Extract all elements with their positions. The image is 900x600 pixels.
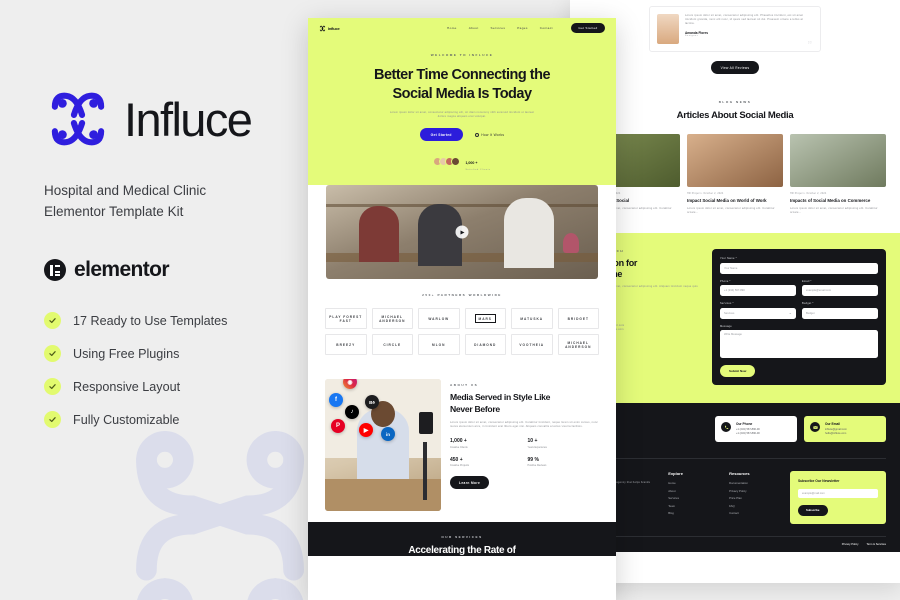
blog-card-title: Impact Social Media on World of Work — [687, 198, 783, 204]
stat-value: 450 + — [450, 457, 522, 463]
hero-title-line-2: Social Media Is Today — [392, 86, 531, 102]
subscribe-button[interactable]: Subscribe — [798, 505, 828, 516]
blog-excerpt: Lorem ipsum dolor sit amet, consectetur … — [790, 207, 886, 215]
site-logo-text: Influce — [328, 26, 340, 31]
nav-cta-button[interactable]: Get Started — [571, 23, 605, 34]
email-line-1: influce@gmail.com — [825, 428, 847, 431]
terms-link[interactable]: Term & Services — [866, 543, 886, 546]
feature-item: 17 Ready to Use Templates — [44, 312, 308, 329]
about-stats: 1,000 + Creative Clients 10 + Years Expe… — [450, 438, 599, 467]
template-preview-center[interactable]: Influce Home About Services Pages Contac… — [308, 18, 616, 600]
feature-item: Fully Customizable — [44, 411, 308, 428]
influce-logo-icon — [44, 85, 112, 153]
site-navbar: Influce Home About Services Pages Contac… — [308, 18, 616, 38]
phone-card-title: Our Phone — [736, 422, 760, 426]
blog-card-title: Impacts of Social Media on Commerce — [790, 198, 886, 204]
email-line-2: hello@influce.com — [825, 432, 846, 435]
blog-image — [687, 134, 783, 187]
privacy-policy-link[interactable]: Privacy Policy — [842, 543, 859, 546]
phone-line-1: +1 (234) 567-890-00 — [736, 428, 760, 431]
about-section: ◉ f ♪ Bē P ▶ in ABOUT US Media Served in… — [308, 371, 616, 511]
tiktok-icon[interactable]: ♪ — [345, 405, 359, 419]
feature-list: 17 Ready to Use Templates Using Free Plu… — [44, 312, 308, 428]
phone-input[interactable]: +1 (234) 567-890 — [720, 285, 796, 296]
partner-logo: PLAY FOREST FAST — [325, 308, 367, 329]
partners-section: 250+ PARTNERS WORLDWIDE PLAY FOREST FAST… — [308, 279, 616, 371]
about-content: ABOUT US Media Served in Style Like Neve… — [450, 379, 599, 511]
elementor-lockup: elementor — [44, 258, 308, 282]
check-icon — [44, 378, 61, 395]
play-icon[interactable] — [456, 226, 469, 239]
stat-label: Positive Reviews — [528, 464, 600, 467]
footer-link[interactable]: About — [668, 489, 715, 493]
stat-label: Years Experience — [528, 446, 600, 449]
footer-link[interactable]: Documentation — [729, 481, 776, 485]
nav-item-about[interactable]: About — [469, 26, 479, 30]
footer-column-explore: Explore Home About Services Team Blog — [668, 471, 715, 524]
budget-label: Budget * — [802, 302, 878, 305]
footer-link[interactable]: Privacy Policy — [729, 489, 776, 493]
footer-link[interactable]: Team — [668, 504, 715, 508]
nav-item-contact[interactable]: Contact — [540, 26, 553, 30]
feature-item: Using Free Plugins — [44, 345, 308, 362]
about-title-line-2: Never Before — [450, 404, 500, 414]
feature-item: Responsive Layout — [44, 378, 308, 395]
services-title: Accelerating the Rate of — [308, 545, 616, 556]
blog-meta: HR Project • October 2, 2024 — [790, 192, 886, 195]
footer-link[interactable]: Services — [668, 496, 715, 500]
subtitle-line-1: Hospital and Medical Clinic — [44, 180, 264, 201]
quotation-form[interactable]: Your Name * Your Name Phone * +1 (234) 5… — [712, 249, 886, 385]
about-eyebrow: ABOUT US — [450, 383, 599, 387]
footer-columns: Influce Social media marketing agency th… — [584, 458, 886, 524]
youtube-icon[interactable]: ▶ — [359, 423, 373, 437]
elementor-icon — [44, 259, 66, 281]
email-card[interactable]: Our Email influce@gmail.com hello@influc… — [804, 416, 886, 442]
hero-buttons: Get Started How It Works — [308, 128, 616, 141]
phone-icon — [721, 422, 731, 432]
about-title: Media Served in Style Like Never Before — [450, 392, 599, 415]
email-card-value: influce@gmail.com hello@influce.com — [825, 428, 847, 436]
hero-social-proof: 1,000 + Satisfied Clients — [308, 151, 616, 171]
feature-label: Using Free Plugins — [73, 347, 179, 361]
phone-line-2: +1 (234) 567-890-00 — [736, 432, 760, 435]
feature-label: Fully Customizable — [73, 413, 179, 427]
check-icon — [44, 312, 61, 329]
hero-primary-button[interactable]: Get Started — [420, 128, 463, 141]
footer-link[interactable]: Price Plan — [729, 496, 776, 500]
phone-label: Phone * — [720, 280, 796, 283]
about-paragraph: Lorem ipsum dolor sit amet, consectetur … — [450, 421, 599, 429]
left-info-panel: Influce Hospital and Medical Clinic Elem… — [0, 0, 308, 600]
behance-icon[interactable]: Bē — [365, 395, 379, 409]
partner-logo: DIAMOND — [465, 334, 507, 355]
partners-eyebrow: 250+ PARTNERS WORLDWIDE — [325, 293, 599, 297]
brand-name: Influce — [124, 92, 251, 147]
stat-item: 450 + Creative Projects — [450, 457, 522, 468]
email-input[interactable]: example@email.com — [802, 285, 878, 296]
nav-menu: Home About Services Pages Contact Get St… — [447, 23, 605, 34]
hero-secondary-label: How It Works — [481, 133, 504, 137]
video-subject-child — [359, 206, 399, 262]
service-select[interactable]: Services — [720, 308, 796, 319]
feature-label: Responsive Layout — [73, 380, 180, 394]
partner-logo: VOOTHEIA — [511, 334, 553, 355]
email-label: Email * — [802, 280, 878, 283]
about-learn-more-button[interactable]: Learn More — [450, 476, 489, 489]
stat-label: Creative Projects — [450, 464, 522, 467]
video-vase — [563, 233, 579, 253]
message-label: Message — [720, 325, 878, 328]
newsletter-card: Subscribe Our Newsletter example@mail.co… — [790, 471, 886, 524]
brand-lockup: Influce — [44, 85, 308, 153]
about-image: ◉ f ♪ Bē P ▶ in — [325, 379, 441, 511]
partner-logo: CIRCLE — [372, 334, 414, 355]
stat-item: 99 % Positive Reviews — [528, 457, 600, 468]
feature-label: 17 Ready to Use Templates — [73, 314, 227, 328]
play-icon — [475, 133, 479, 137]
budget-input[interactable]: Budget — [802, 308, 878, 319]
footer-link[interactable]: Blog — [668, 511, 715, 515]
blog-excerpt: Lorem ipsum dolor sit amet, consectetur … — [687, 207, 783, 215]
partner-logo-label: MARS — [475, 314, 496, 323]
email-card-title: Our Email — [825, 422, 847, 426]
partner-logo: MARS — [465, 308, 507, 329]
stat-value: 99 % — [528, 457, 600, 463]
client-count-label: Satisfied Clients — [465, 169, 490, 171]
footer-link[interactable]: FAQ — [729, 504, 776, 508]
footer-link[interactable]: Home — [668, 481, 715, 485]
elementor-label: elementor — [74, 258, 169, 282]
partner-logo: MICHAEL ANDERSON — [558, 334, 600, 355]
facebook-icon[interactable]: f — [329, 393, 343, 407]
testimonial-card: Lorem ipsum dolor sit amet, consectetur … — [649, 6, 821, 52]
phone-card-value: +1 (234) 567-890-00 +1 (234) 567-890-00 — [736, 428, 760, 436]
partner-logo: MICHAEL ANDERSON — [372, 308, 414, 329]
name-label: Your Name * — [720, 257, 878, 260]
name-input[interactable]: Your Name — [720, 263, 878, 274]
nav-item-pages[interactable]: Pages — [517, 26, 528, 30]
newsletter-title: Subscribe Our Newsletter — [798, 479, 878, 483]
partner-logo: MATUSKA — [511, 308, 553, 329]
footer-column-title: Explore — [668, 471, 715, 476]
testimonial-section: Lorem ipsum dolor sit amet, consectetur … — [570, 0, 900, 86]
avatar — [657, 14, 679, 44]
influce-logo-icon — [319, 25, 326, 32]
stat-value: 1,000 + — [450, 438, 522, 444]
newsletter-input[interactable]: example@mail.com — [798, 489, 878, 498]
footer-column-title: Resources — [729, 471, 776, 476]
hero-paragraph: Lorem ipsum dolor sit amet, consectetur … — [387, 111, 537, 119]
message-textarea[interactable]: Write Message — [720, 330, 878, 358]
avatar — [451, 157, 460, 166]
footer-section: Our Phone +1 (234) 567-890-00 +1 (234) 5… — [570, 403, 900, 552]
hero-title-line-1: Better Time Connecting the — [374, 67, 550, 83]
blog-card[interactable]: HR Project • October 2, 2024 Impacts of … — [790, 134, 886, 215]
avatar-stack — [433, 157, 460, 166]
testimonial-role: Designer — [685, 35, 813, 37]
video-shelf — [326, 204, 598, 207]
kit-subtitle: Hospital and Medical Clinic Elementor Te… — [44, 180, 264, 222]
client-count: 1,000 + — [465, 161, 477, 165]
nav-item-home[interactable]: Home — [447, 26, 457, 30]
partner-logo: BRIDGET — [558, 308, 600, 329]
blog-eyebrow: BLOG NEWS — [584, 100, 886, 104]
view-reviews-button[interactable]: View All Reviews — [711, 61, 760, 74]
blog-title: Articles About Social Media — [584, 110, 886, 121]
hero-secondary-button[interactable]: How It Works — [475, 133, 505, 137]
footer-link[interactable]: Contact — [729, 511, 776, 515]
partner-logo: WARLOW — [418, 308, 460, 329]
partners-grid: PLAY FOREST FAST MICHAEL ANDERSON WARLOW… — [325, 308, 599, 355]
footer-bottom: HR Project Privacy Policy Term & Service… — [584, 536, 886, 552]
blog-section: BLOG NEWS Articles About Social Media HR… — [570, 86, 900, 233]
hero-title: Better Time Connecting the Social Media … — [308, 66, 616, 104]
stat-item: 1,000 + Creative Clients — [450, 438, 522, 449]
stat-value: 10 + — [528, 438, 600, 444]
stat-label: Creative Clients — [450, 446, 522, 449]
social-icon-cluster: ◉ f ♪ Bē P ▶ in — [329, 383, 375, 511]
service-label: Services * — [720, 302, 796, 305]
nav-item-services[interactable]: Services — [491, 26, 506, 30]
blog-meta: HR Project • October 2, 2024 — [687, 192, 783, 195]
blog-grid: HR Project • October 2, 2024 The Impacts… — [584, 134, 886, 215]
pinterest-icon[interactable]: P — [331, 419, 345, 433]
blog-card[interactable]: HR Project • October 2, 2024 Impact Soci… — [687, 134, 783, 215]
testimonial-text: Lorem ipsum dolor sit amet, consectetur … — [685, 14, 813, 26]
check-icon — [44, 345, 61, 362]
instagram-icon[interactable]: ◉ — [343, 379, 357, 389]
footer-column-resources: Resources Documentation Privacy Policy P… — [729, 471, 776, 524]
subtitle-line-2: Elementor Template Kit — [44, 201, 264, 222]
hero-video[interactable] — [326, 185, 598, 279]
mail-icon — [810, 422, 820, 432]
quotation-section: GET IN TOUCH Quotation for Everyone Lore… — [570, 233, 900, 403]
services-eyebrow: OUR SERVICES — [308, 535, 616, 539]
hero-eyebrow: WELCOME TO INFLUCE — [308, 53, 616, 57]
stat-item: 10 + Years Experience — [528, 438, 600, 449]
blog-image — [790, 134, 886, 187]
submit-button[interactable]: Submit Now — [720, 365, 755, 377]
phone-card[interactable]: Our Phone +1 (234) 567-890-00 +1 (234) 5… — [715, 416, 797, 442]
linkedin-icon[interactable]: in — [381, 427, 395, 441]
check-icon — [44, 411, 61, 428]
services-section: OUR SERVICES Accelerating the Rate of — [308, 522, 616, 556]
video-subject-woman-2 — [504, 198, 554, 268]
partner-logo: BREEZY — [325, 334, 367, 355]
hero-section: WELCOME TO INFLUCE Better Time Connectin… — [308, 38, 616, 185]
phone-icon — [419, 412, 433, 434]
site-logo[interactable]: Influce — [319, 25, 340, 32]
template-preview-right[interactable]: Lorem ipsum dolor sit amet, consectetur … — [570, 0, 900, 583]
partner-logo: MLON — [418, 334, 460, 355]
about-title-line-1: Media Served in Style Like — [450, 392, 550, 402]
tripod-icon — [423, 442, 427, 500]
contact-cards: Our Phone +1 (234) 567-890-00 +1 (234) 5… — [584, 416, 886, 442]
